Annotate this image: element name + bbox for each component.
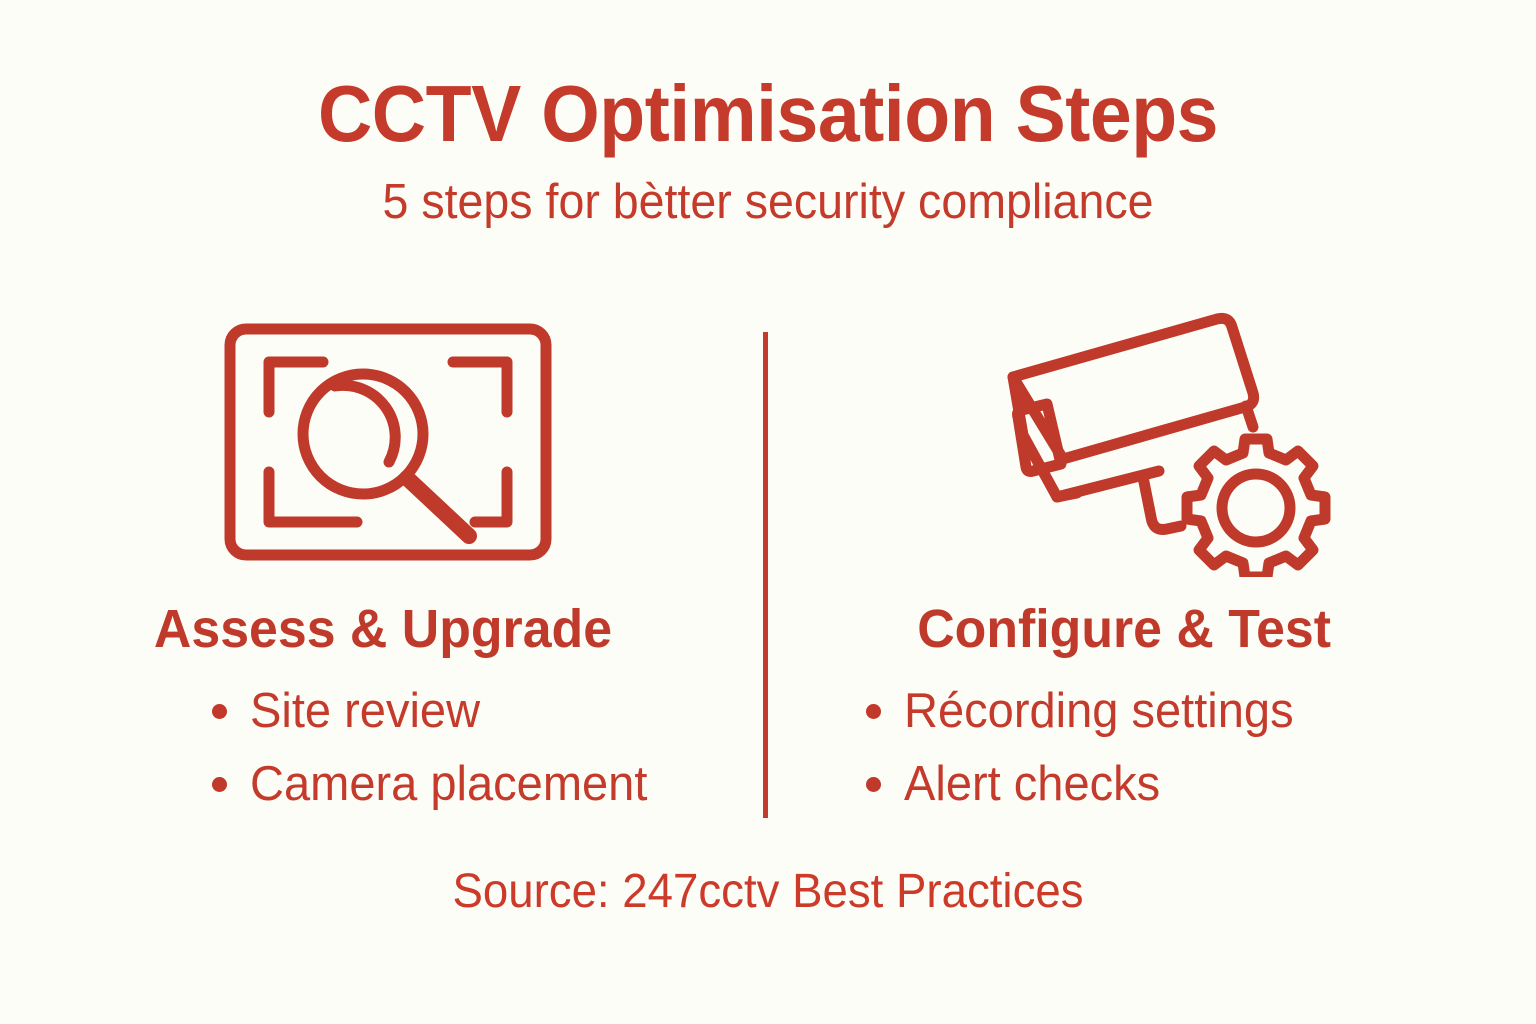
bullet-label: Récording settings — [904, 684, 1294, 739]
footer: Source: 247cctv Best Practices — [0, 868, 1536, 916]
bullet-list-configure-test: Récording settings Alert checks — [766, 656, 1536, 812]
list-item: Récording settings — [866, 684, 1536, 739]
column-heading-assess-upgrade: Assess & Upgrade — [15, 572, 750, 656]
header: CCTV Optimisation Steps 5 steps for bètt… — [0, 0, 1536, 227]
page-title: CCTV Optimisation Steps — [46, 74, 1490, 154]
bullet-label: Camera placement — [250, 757, 647, 812]
cctv-camera-gear-icon — [991, 307, 1351, 577]
column-configure-test: Configure & Test Récording settings Aler… — [766, 312, 1536, 830]
bullet-dot-icon — [212, 704, 227, 719]
bullet-list-assess-upgrade: Site review Camera placement — [0, 656, 766, 812]
page-subtitle: 5 steps for bètter security compliance — [38, 154, 1497, 227]
bullet-label: Alert checks — [904, 757, 1160, 812]
column-assess-upgrade: Assess & Upgrade Site review Camera plac… — [0, 312, 766, 830]
frame-magnifier-icon — [223, 322, 553, 562]
source-credit: Source: 247cctv Best Practices — [38, 868, 1497, 916]
bullet-dot-icon — [866, 777, 881, 792]
cctv-camera-gear-icon-wrap — [766, 312, 1536, 572]
list-item: Alert checks — [866, 757, 1536, 812]
bullet-dot-icon — [212, 777, 227, 792]
bullet-dot-icon — [866, 704, 881, 719]
frame-magnifier-icon-wrap — [0, 312, 766, 572]
bullet-label: Site review — [250, 684, 480, 739]
column-heading-configure-test: Configure & Test — [781, 572, 1520, 656]
list-item: Camera placement — [212, 757, 766, 812]
list-item: Site review — [212, 684, 766, 739]
infographic-poster: CCTV Optimisation Steps 5 steps for bètt… — [0, 0, 1536, 1024]
columns-container: Assess & Upgrade Site review Camera plac… — [0, 312, 1536, 832]
